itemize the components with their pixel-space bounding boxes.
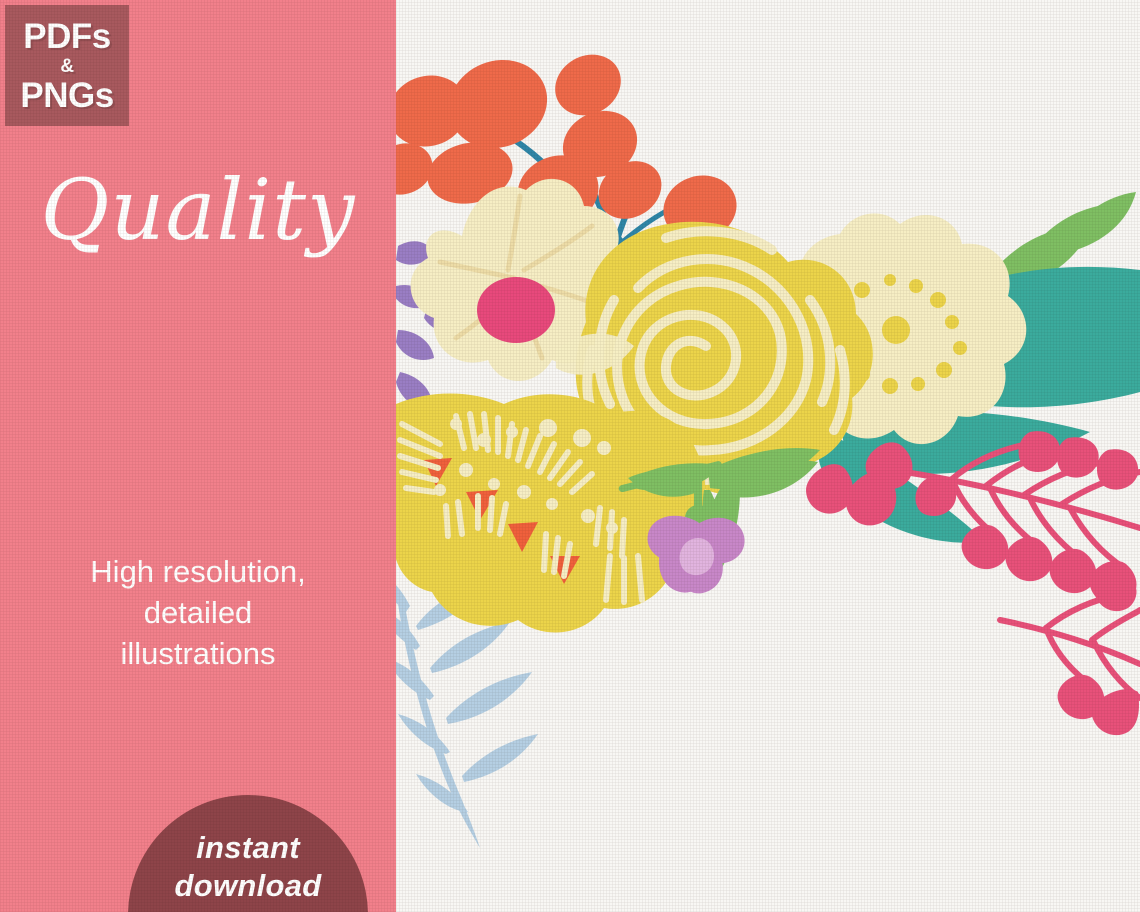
yellow-folk-flower <box>381 394 705 633</box>
subcopy-line-1: High resolution, <box>18 552 378 593</box>
instant-download-text: instant download <box>128 829 368 905</box>
headline-quality: Quality <box>0 168 396 252</box>
subcopy-block: High resolution, detailed illustrations <box>18 552 378 675</box>
subcopy-line-3: illustrations <box>18 634 378 675</box>
instant-download-line-1: instant <box>128 829 368 867</box>
format-badge-ampersand: & <box>60 57 73 76</box>
format-badge-line-pdfs: PDFs <box>23 19 110 54</box>
subcopy-line-2: detailed <box>18 593 378 634</box>
left-info-panel: PDFs & PNGs Quality High resolution, det… <box>0 0 396 912</box>
format-badge-line-pngs: PNGs <box>20 78 113 113</box>
daisy-center <box>477 277 555 343</box>
instant-download-line-2: download <box>128 867 368 905</box>
format-badge: PDFs & PNGs <box>5 5 129 126</box>
product-preview-image: PDFs & PNGs Quality High resolution, det… <box>0 0 1140 912</box>
